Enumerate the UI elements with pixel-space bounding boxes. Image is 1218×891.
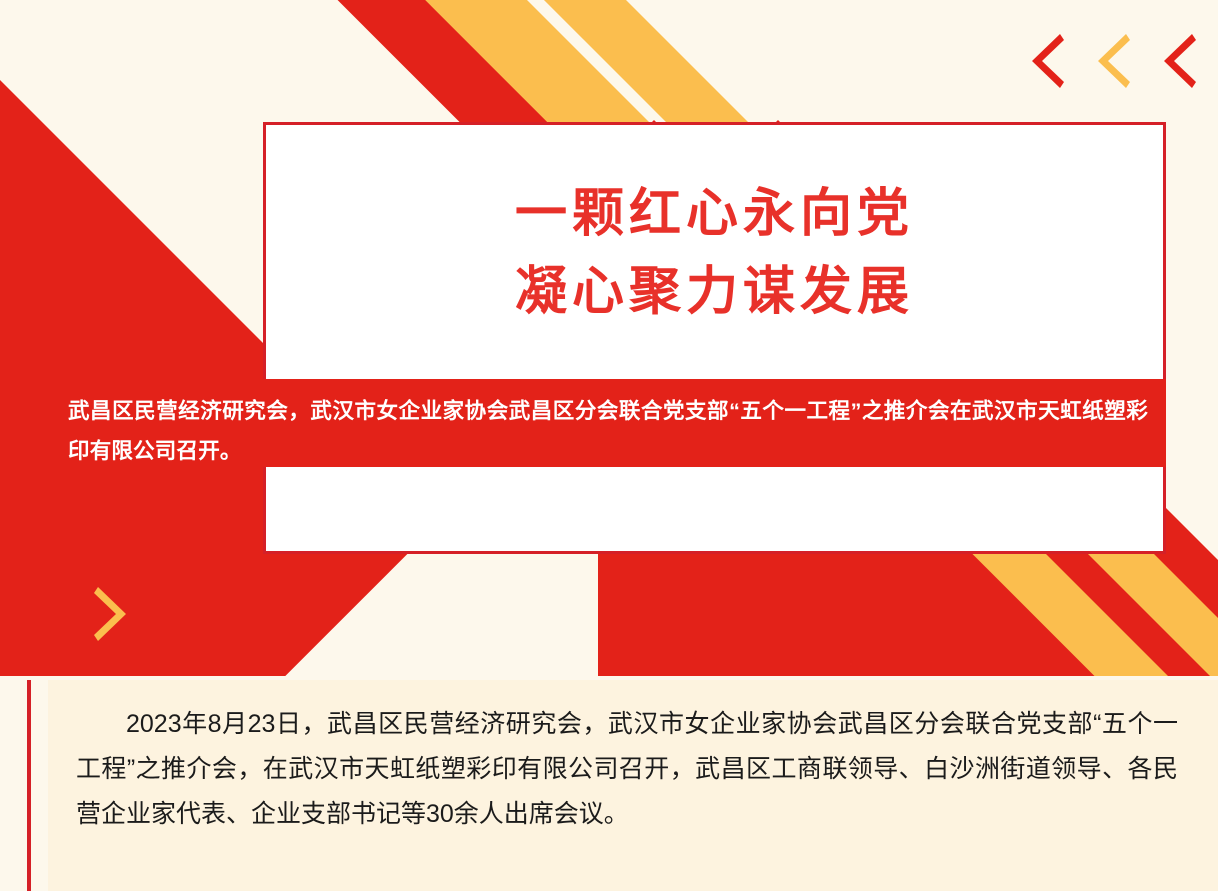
chevron-left-icon bbox=[1152, 32, 1196, 90]
left-accent-rule bbox=[27, 680, 31, 891]
chevron-right-icon bbox=[94, 585, 138, 643]
chevron-right-icon bbox=[30, 585, 74, 643]
subtitle-banner: 武昌区民营经济研究会，武汉市女企业家协会武昌区分会联合党支部“五个一工程”之推介… bbox=[50, 379, 1166, 467]
header-banner: 一颗红心永向党 凝心聚力谋发展 武昌区民营经济研究会，武汉市女企业家协会武昌区分… bbox=[0, 0, 1218, 676]
article-body-card: 2023年8月23日，武昌区民营经济研究会，武汉市女企业家协会武昌区分会联合党支… bbox=[48, 680, 1218, 891]
article-paragraph: 2023年8月23日，武昌区民营经济研究会，武汉市女企业家协会武昌区分会联合党支… bbox=[76, 702, 1178, 837]
chevron-left-icon bbox=[1086, 32, 1130, 90]
chevron-group-bottom-left bbox=[30, 585, 202, 643]
subtitle-text: 武昌区民营经济研究会，武汉市女企业家协会武昌区分会联合党支部“五个一工程”之推介… bbox=[68, 391, 1148, 471]
chevron-right-icon bbox=[158, 585, 202, 643]
chevron-group-top-right bbox=[1020, 32, 1196, 90]
poster-page: 一颗红心永向党 凝心聚力谋发展 武昌区民营经济研究会，武汉市女企业家协会武昌区分… bbox=[0, 0, 1218, 891]
title-card bbox=[263, 122, 1166, 554]
chevron-left-icon bbox=[1020, 32, 1064, 90]
article-body-section: 2023年8月23日，武昌区民营经济研究会，武汉市女企业家协会武昌区分会联合党支… bbox=[0, 676, 1218, 891]
